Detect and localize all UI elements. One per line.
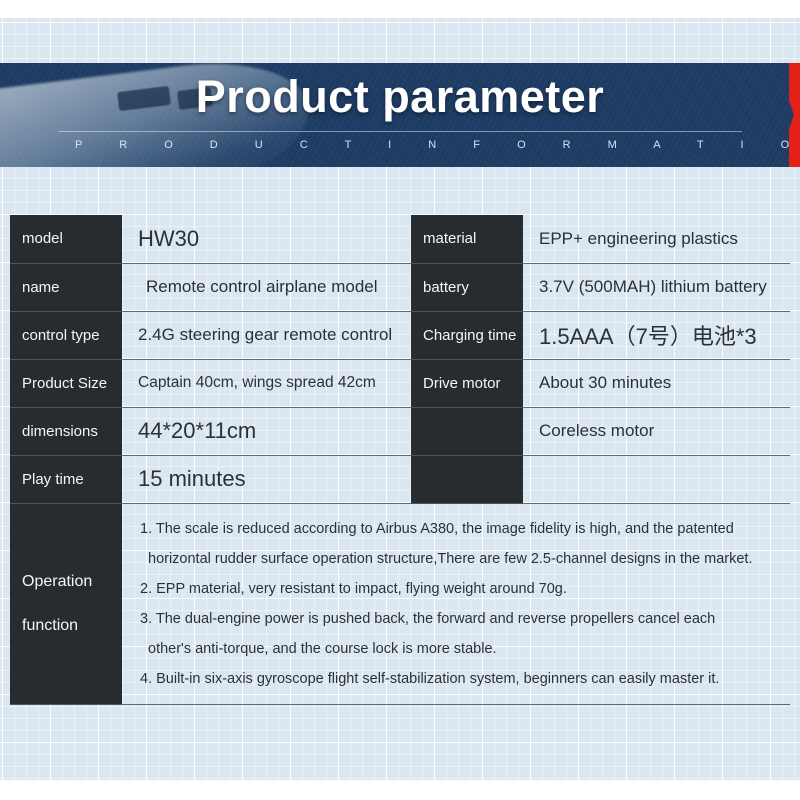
spec-label-empty bbox=[411, 407, 523, 455]
spec-value-empty bbox=[523, 455, 790, 503]
spec-label-name: name bbox=[10, 263, 122, 311]
spec-label-battery: battery bbox=[411, 263, 523, 311]
spec-label-dimensions: dimensions bbox=[10, 407, 122, 455]
spec-value-material: EPP+ engineering plastics bbox=[523, 215, 790, 263]
spec-value-product-size: Captain 40cm, wings spread 42cm bbox=[122, 359, 411, 407]
table-row: Play time 15 minutes bbox=[10, 455, 790, 503]
specification-table: model HW30 material EPP+ engineering pla… bbox=[10, 215, 790, 705]
spec-label-empty bbox=[411, 455, 523, 503]
page-subtitle: P R O D U C T I N F O R M A T I O N bbox=[58, 139, 742, 151]
spec-label-play-time: Play time bbox=[10, 455, 122, 503]
spec-label-charging-time: Charging time bbox=[411, 311, 523, 359]
spec-label-material: material bbox=[411, 215, 523, 263]
spec-value-model: HW30 bbox=[122, 215, 411, 263]
spec-label-model: model bbox=[10, 215, 122, 263]
operation-label-line2: function bbox=[22, 617, 122, 635]
table-row: model HW30 material EPP+ engineering pla… bbox=[10, 215, 790, 263]
table-row: control type 2.4G steering gear remote c… bbox=[10, 311, 790, 359]
operation-item: 1. The scale is reduced according to Air… bbox=[140, 514, 780, 544]
spec-value-charging-time: 1.5AAA（7号）电池*3 bbox=[523, 311, 790, 359]
table-row-operation: Operation function 1. The scale is reduc… bbox=[10, 503, 790, 704]
spec-value-dimensions: 44*20*11cm bbox=[122, 407, 411, 455]
spec-label-control-type: control type bbox=[10, 311, 122, 359]
operation-item: 4. Built-in six-axis gyroscope flight se… bbox=[140, 664, 780, 694]
operation-item: horizontal rudder surface operation stru… bbox=[140, 544, 780, 574]
operation-item: 2. EPP material, very resistant to impac… bbox=[140, 574, 780, 604]
spec-label-product-size: Product Size bbox=[10, 359, 122, 407]
spec-value-drive-motor: About 30 minutes bbox=[523, 359, 790, 407]
spec-value-operation-function: 1. The scale is reduced according to Air… bbox=[122, 503, 790, 704]
operation-item: other's anti-torque, and the course lock… bbox=[140, 634, 780, 664]
table-row: name Remote control airplane model batte… bbox=[10, 263, 790, 311]
header-banner: Product parameter P R O D U C T I N F O … bbox=[0, 63, 800, 167]
table-row: dimensions 44*20*11cm Coreless motor bbox=[10, 407, 790, 455]
spec-value-control-type: 2.4G steering gear remote control bbox=[122, 311, 411, 359]
spec-label-operation-function: Operation function bbox=[10, 503, 122, 704]
spec-value-coreless-motor: Coreless motor bbox=[523, 407, 790, 455]
operation-item: 3. The dual-engine power is pushed back,… bbox=[140, 604, 780, 634]
spec-label-drive-motor: Drive motor bbox=[411, 359, 523, 407]
product-parameter-page: Product parameter P R O D U C T I N F O … bbox=[0, 0, 800, 800]
spec-value-battery: 3.7V (500MAH) lithium battery bbox=[523, 263, 790, 311]
spec-value-name: Remote control airplane model bbox=[122, 263, 411, 311]
page-title: Product parameter bbox=[0, 71, 800, 123]
table-row: Product Size Captain 40cm, wings spread … bbox=[10, 359, 790, 407]
title-divider bbox=[58, 131, 742, 132]
spec-value-play-time: 15 minutes bbox=[122, 455, 411, 503]
operation-label-line1: Operation bbox=[22, 573, 122, 591]
